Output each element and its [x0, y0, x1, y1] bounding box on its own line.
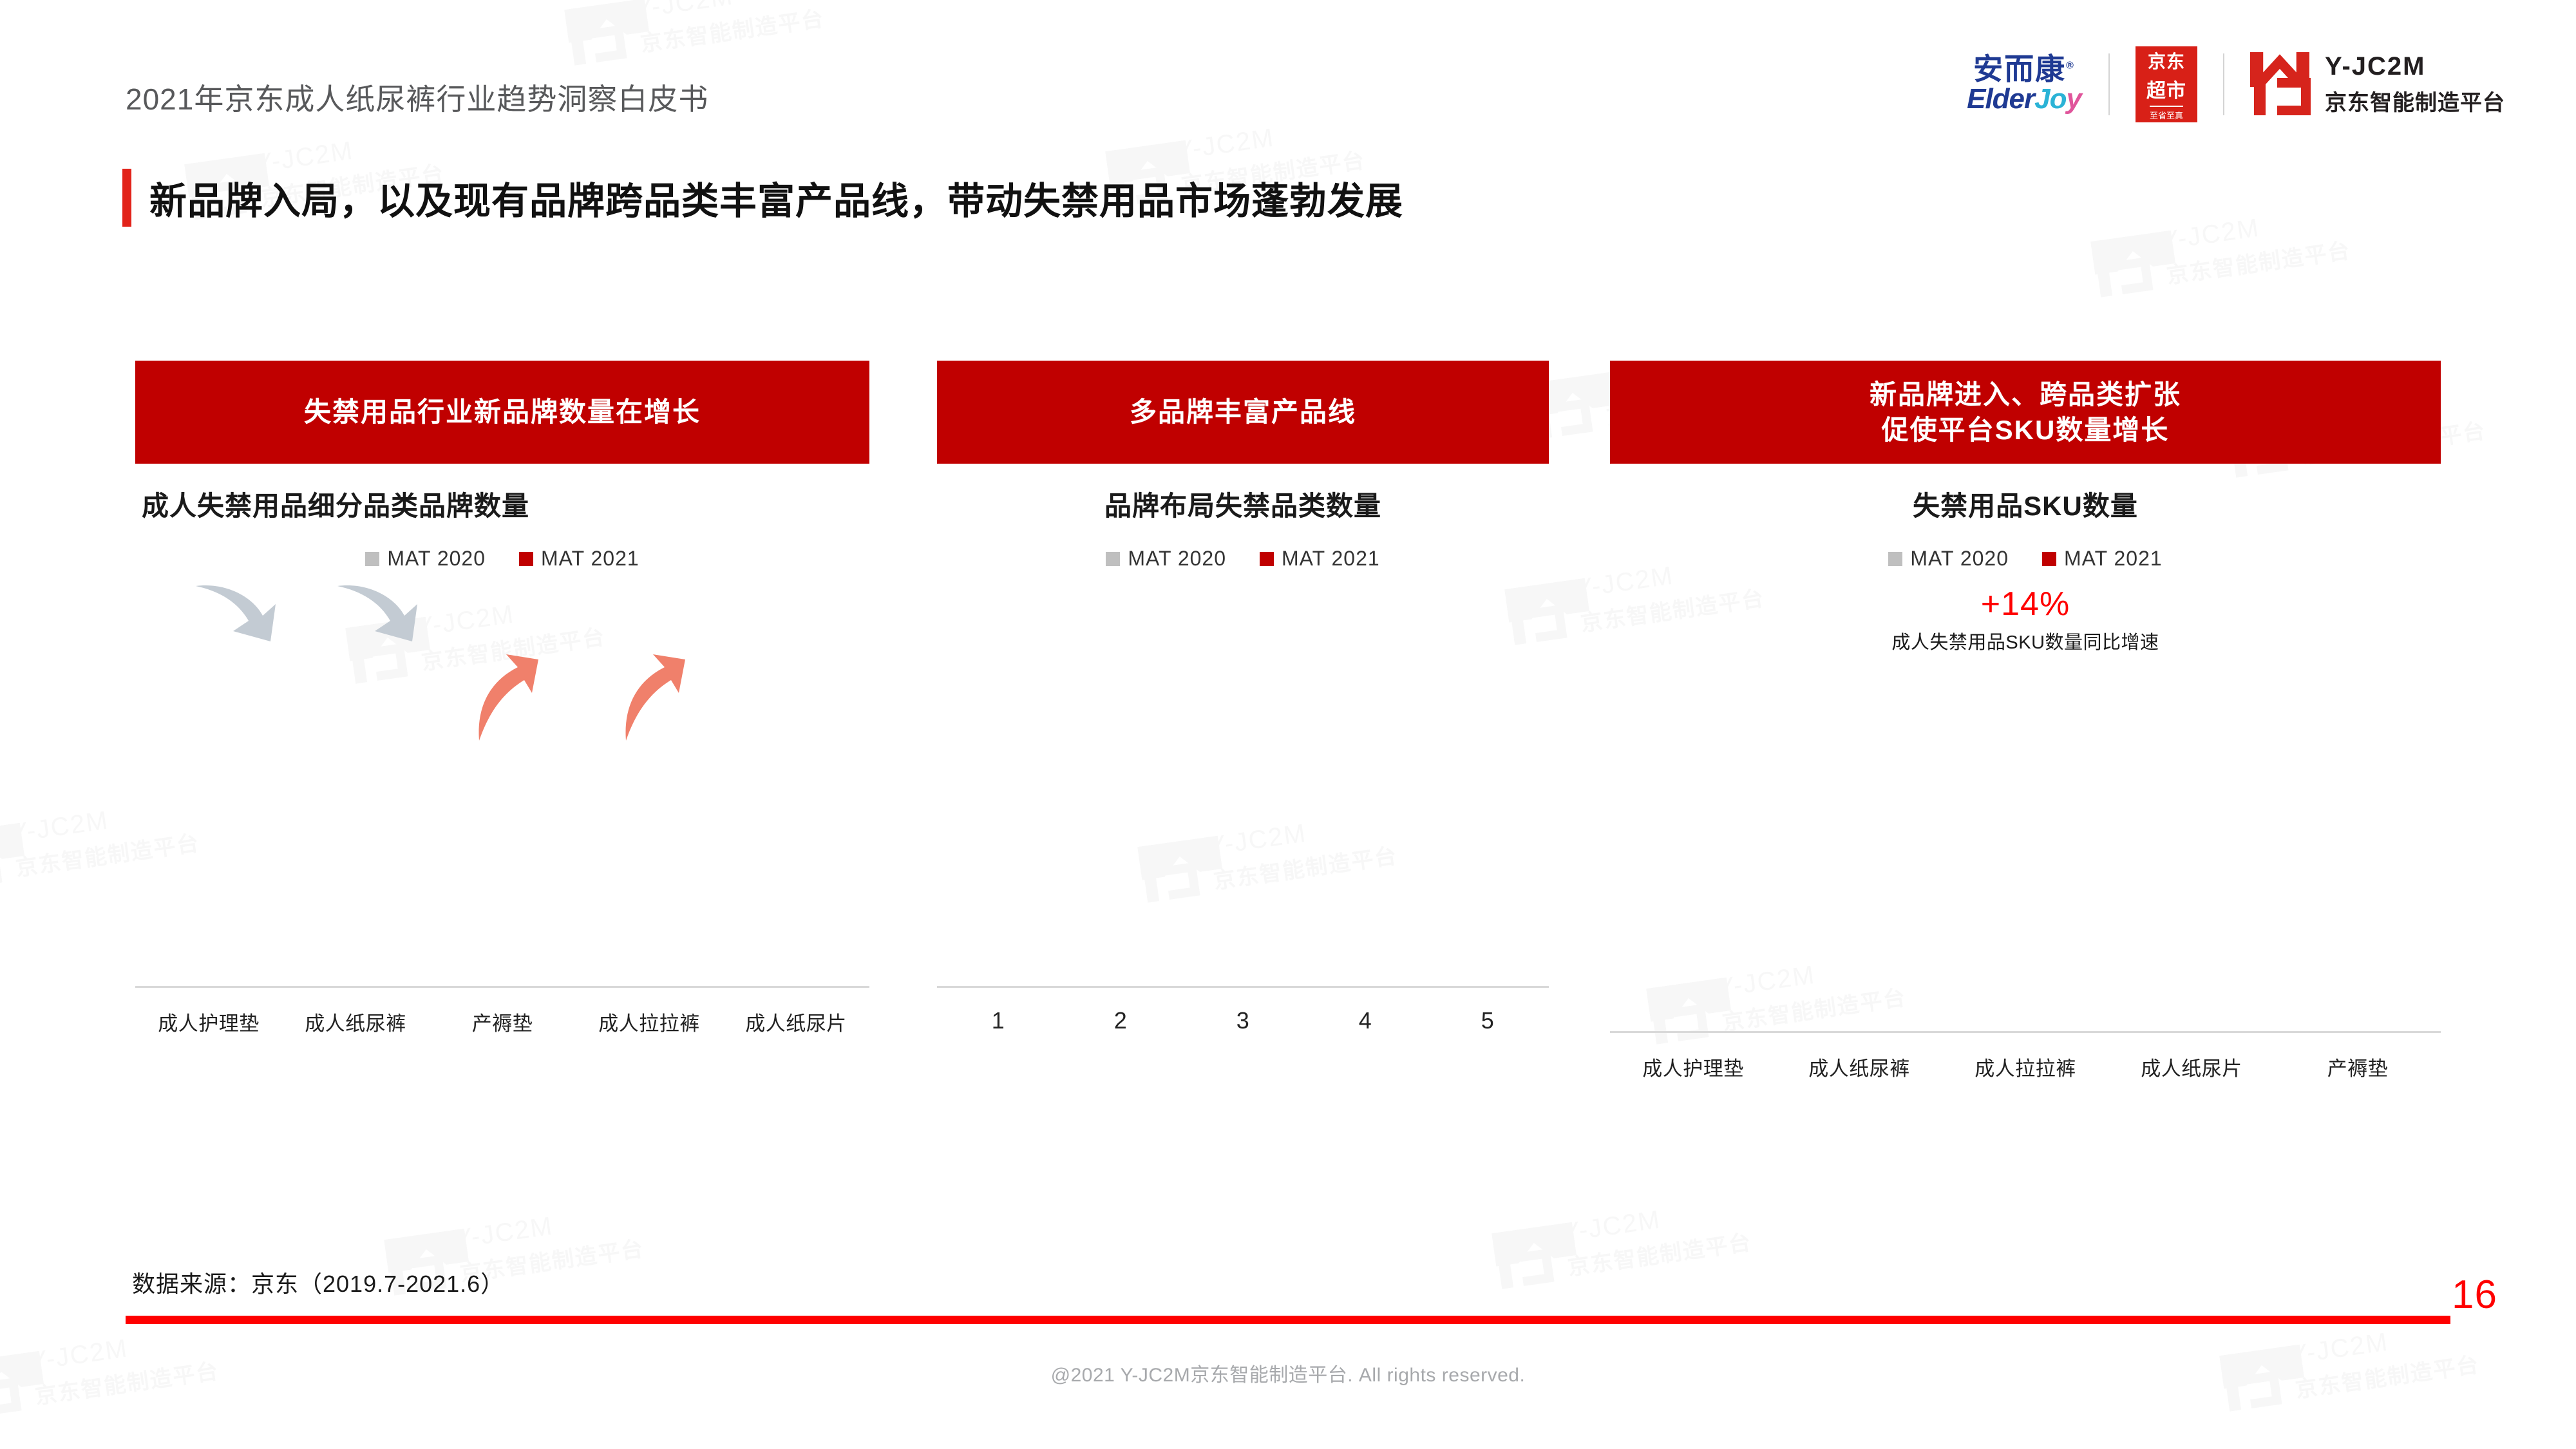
xtick-label: 2 — [1059, 1007, 1182, 1034]
page-number: 16 — [2452, 1272, 2497, 1318]
kpi-label: 成人失禁用品SKU数量同比增速 — [1610, 627, 2441, 654]
legend-swatch-mat2021 — [2042, 552, 2056, 566]
watermark: Y-JC2M京东智能制造平台 — [1491, 1193, 1754, 1291]
legend-swatch-mat2020 — [1106, 552, 1120, 566]
watermark-line2: 京东智能制造平台 — [1566, 1224, 1754, 1282]
panel-2-header: 多品牌丰富产品线 — [937, 361, 1549, 464]
legend-swatch-mat2020 — [365, 552, 379, 566]
xtick-label: 产褥垫 — [2275, 1052, 2441, 1081]
xtick-label: 成人护理垫 — [135, 1007, 282, 1036]
watermark: Y-JC2M京东智能制造平台 — [2090, 202, 2353, 299]
panel-3-header: 新品牌进入、跨品类扩张 促使平台SKU数量增长 — [1610, 361, 2441, 464]
panel-3-header-line2: 促使平台SKU数量增长 — [1870, 412, 2181, 448]
data-source-note: 数据来源：京东（2019.7-2021.6） — [132, 1265, 504, 1299]
xtick-label: 4 — [1304, 1007, 1426, 1034]
jd-supermarket-line2: 超市 — [2146, 75, 2186, 103]
legend-swatch-mat2021 — [519, 552, 533, 566]
legend-label-mat2020: MAT 2020 — [387, 547, 486, 571]
panel-1-legend: MAT 2020 MAT 2021 — [135, 547, 869, 571]
legend-item-mat2021[interactable]: MAT 2021 — [2042, 547, 2163, 571]
xtick-label: 成人拉拉裤 — [1942, 1052, 2108, 1081]
panel-3-legend: MAT 2020 MAT 2021 — [1610, 547, 2441, 571]
yjc2m-mark-icon — [1492, 1222, 1558, 1289]
legend-label-mat2021: MAT 2021 — [2064, 547, 2163, 571]
xtick-label: 3 — [1182, 1007, 1304, 1034]
elderjoy-logo: 安而康® ElderJoy — [1967, 54, 2108, 114]
jd-supermarket-line3: 至省至真 — [2150, 106, 2183, 121]
panel-3-header-line1: 新品牌进入、跨品类扩张 — [1870, 377, 2181, 412]
panel-1-header: 失禁用品行业新品牌数量在增长 — [135, 361, 869, 464]
chart-3-xaxis: 成人护理垫 成人纸尿裤 成人拉拉裤 成人纸尿片 产褥垫 — [1610, 1052, 2441, 1081]
watermark-line1: Y-JC2M — [453, 1200, 641, 1255]
yjc2m-logo: Y-JC2M 京东智能制造平台 — [2224, 52, 2505, 117]
chart-3-plot — [1610, 672, 2441, 1033]
logo-row: 安而康® ElderJoy 京东 超市 至省至真 Y-JC2M 京东智能制造平台 — [1967, 46, 2505, 122]
yjc2m-logo-en: Y-JC2M — [2325, 52, 2505, 81]
yjc2m-mark-icon — [2250, 52, 2313, 117]
legend-item-mat2020[interactable]: MAT 2020 — [365, 547, 486, 571]
panel-brand-count: 失禁用品行业新品牌数量在增长 成人失禁用品细分品类品牌数量 MAT 2020 M… — [135, 361, 869, 1036]
yjc2m-mark-icon — [2090, 231, 2157, 298]
copyright-text: @2021 Y-JC2M京东智能制造平台. All rights reserve… — [0, 1359, 2576, 1387]
logo-divider-1 — [2108, 53, 2110, 115]
yjc2m-logo-cn: 京东智能制造平台 — [2325, 85, 2505, 117]
elderjoy-logo-en-elder: Elder — [1967, 83, 2034, 115]
legend-item-mat2020[interactable]: MAT 2020 — [1106, 547, 1226, 571]
title-accent-bar — [122, 169, 131, 227]
xtick-label: 成人纸尿裤 — [1776, 1052, 1942, 1081]
panel-sku-count: 新品牌进入、跨品类扩张 促使平台SKU数量增长 失禁用品SKU数量 MAT 20… — [1610, 361, 2441, 1081]
panel-3-subtitle: 失禁用品SKU数量 — [1610, 484, 2441, 524]
chart-brand-count: 成人护理垫 成人纸尿裤 产褥垫 成人拉拉裤 成人纸尿片 — [135, 589, 869, 1036]
kpi-value: +14% — [1610, 585, 2441, 623]
legend-label-mat2021: MAT 2021 — [1282, 547, 1380, 571]
elderjoy-logo-en-o: o — [2050, 83, 2067, 115]
chart-1-xaxis: 成人护理垫 成人纸尿裤 产褥垫 成人拉拉裤 成人纸尿片 — [135, 1007, 869, 1036]
legend-item-mat2021[interactable]: MAT 2021 — [1260, 547, 1380, 571]
legend-item-mat2021[interactable]: MAT 2021 — [519, 547, 639, 571]
panel-2-legend: MAT 2020 MAT 2021 — [937, 547, 1549, 571]
panel-2-subtitle: 品牌布局失禁品类数量 — [937, 484, 1549, 524]
legend-item-mat2020[interactable]: MAT 2020 — [1888, 547, 2009, 571]
elderjoy-logo-en-y: y — [2067, 83, 2081, 115]
arrow-up-icon — [470, 645, 541, 742]
document-title: 2021年京东成人纸尿裤行业趋势洞察白皮书 — [126, 76, 708, 118]
jd-supermarket-line1: 京东 — [2148, 48, 2185, 73]
legend-label-mat2020: MAT 2020 — [1128, 547, 1226, 571]
xtick-label: 5 — [1426, 1007, 1549, 1034]
xtick-label: 产褥垫 — [429, 1007, 576, 1036]
elderjoy-logo-en: ElderJoy — [1967, 84, 2081, 114]
watermark-line1: Y-JC2M — [1561, 1193, 1748, 1248]
watermark-line1: Y-JC2M — [2160, 202, 2347, 256]
panel-1-subtitle: 成人失禁用品细分品类品牌数量 — [135, 484, 869, 524]
legend-label-mat2021: MAT 2021 — [541, 547, 639, 571]
xtick-label: 成人护理垫 — [1610, 1052, 1776, 1081]
page-title: 新品牌入局，以及现有品牌跨品类丰富产品线，带动失禁用品市场蓬勃发展 — [149, 171, 1403, 225]
jd-supermarket-logo: 京东 超市 至省至真 — [2136, 46, 2197, 122]
xtick-label: 成人纸尿片 — [2108, 1052, 2275, 1081]
registered-trademark-icon: ® — [2066, 61, 2075, 71]
xtick-label: 成人纸尿片 — [723, 1007, 869, 1036]
kpi-block: +14% 成人失禁用品SKU数量同比增速 — [1610, 585, 2441, 654]
footer-divider — [126, 1316, 2450, 1324]
chart-2-xaxis: 1 2 3 4 5 — [937, 1007, 1549, 1034]
legend-swatch-mat2021 — [1260, 552, 1274, 566]
chart-1-plot — [135, 589, 869, 988]
xtick-label: 成人拉拉裤 — [576, 1007, 723, 1036]
xtick-label: 成人纸尿裤 — [282, 1007, 429, 1036]
chart-sku-count: 成人护理垫 成人纸尿裤 成人拉拉裤 成人纸尿片 产褥垫 — [1610, 672, 2441, 1081]
xtick-label: 1 — [937, 1007, 1059, 1034]
watermark-line2: 京东智能制造平台 — [2164, 232, 2353, 290]
arrow-up-icon — [617, 645, 688, 742]
arrow-down-icon — [335, 574, 425, 645]
yjc2m-mark-icon — [0, 823, 6, 890]
panel-category-spread: 多品牌丰富产品线 品牌布局失禁品类数量 MAT 2020 MAT 2021 — [937, 361, 1549, 1034]
elderjoy-logo-en-j: J — [2034, 83, 2049, 115]
elderjoy-logo-cn-text: 安而康 — [1973, 52, 2066, 86]
slide-header: 2021年京东成人纸尿裤行业趋势洞察白皮书 安而康® ElderJoy 京东 超… — [0, 0, 2576, 135]
chart-category-spread: 1 2 3 4 5 — [937, 589, 1549, 1034]
legend-label-mat2020: MAT 2020 — [1910, 547, 2009, 571]
chart-2-plot — [937, 589, 1549, 988]
elderjoy-logo-cn: 安而康® — [1973, 54, 2075, 84]
page-title-group: 新品牌入局，以及现有品牌跨品类丰富产品线，带动失禁用品市场蓬勃发展 — [122, 169, 1403, 227]
arrow-down-icon — [193, 574, 283, 645]
legend-swatch-mat2020 — [1888, 552, 1902, 566]
